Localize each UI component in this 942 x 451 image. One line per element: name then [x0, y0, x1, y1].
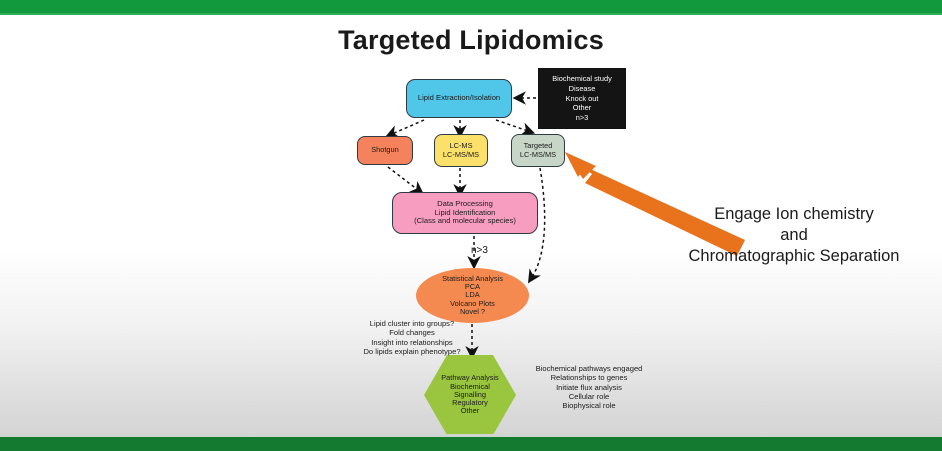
annotation-line: Lipid cluster into groups? [322, 319, 502, 328]
node-line: LC-MS/MS [443, 151, 479, 159]
top-green-bar [0, 0, 942, 13]
node-lc-ms[interactable]: LC-MS LC-MS/MS [434, 134, 488, 167]
annotation-line: Biophysical role [500, 401, 678, 410]
node-line: (Class and molecular species) [414, 217, 516, 226]
node-line: Biochemical study [552, 74, 612, 84]
annotation-line: Relationships to genes [500, 373, 678, 382]
node-line: Knock out [566, 94, 599, 104]
page-title: Targeted Lipidomics [0, 25, 942, 56]
node-line: Shotgun [371, 146, 399, 154]
node-shotgun[interactable]: Shotgun [357, 136, 413, 165]
annotation-line: Initiate flux analysis [500, 383, 678, 392]
annotation-line: Do lipids explain phenotype? [322, 347, 502, 356]
callout-line: Engage Ion chemistry [660, 204, 928, 225]
annotation-left: Lipid cluster into groups? Fold changes … [322, 319, 502, 356]
node-targeted-lc-ms-ms[interactable]: Targeted LC-MS/MS [511, 134, 565, 167]
callout-line: and [660, 225, 928, 246]
node-lipid-extraction[interactable]: Lipid Extraction/Isolation [406, 79, 512, 118]
callout-text: Engage Ion chemistry and Chromatographic… [660, 204, 928, 267]
node-biochemical-study[interactable]: Biochemical study Disease Knock out Othe… [538, 68, 626, 129]
node-line: Lipid Extraction/Isolation [418, 94, 500, 103]
annotation-line: Fold changes [322, 328, 502, 337]
node-line: n>3 [576, 113, 589, 123]
bottom-green-bar [0, 437, 942, 451]
annotation-right: Biochemical pathways engaged Relationshi… [500, 364, 678, 410]
node-line: LC-MS/MS [520, 151, 556, 159]
annotation-line: Biochemical pathways engaged [500, 364, 678, 373]
annotation-line: Insight into relationships [322, 338, 502, 347]
node-statistical-analysis[interactable]: Statistical Analysis PCA LDA Volcano Plo… [416, 268, 529, 323]
slide-canvas: Targeted Lipidomics [0, 0, 942, 451]
callout-line: Chromatographic Separation [660, 246, 928, 267]
node-line: Disease [569, 84, 596, 94]
annotation-line: Cellular role [500, 392, 678, 401]
edge-label-n3: n>3 [471, 245, 488, 256]
node-line: Novel ? [460, 308, 485, 316]
node-line: Other [461, 407, 479, 415]
node-data-processing[interactable]: Data Processing Lipid Identification (Cl… [392, 192, 538, 234]
node-line: Other [573, 103, 591, 113]
top-green-bar-edge [0, 13, 942, 15]
